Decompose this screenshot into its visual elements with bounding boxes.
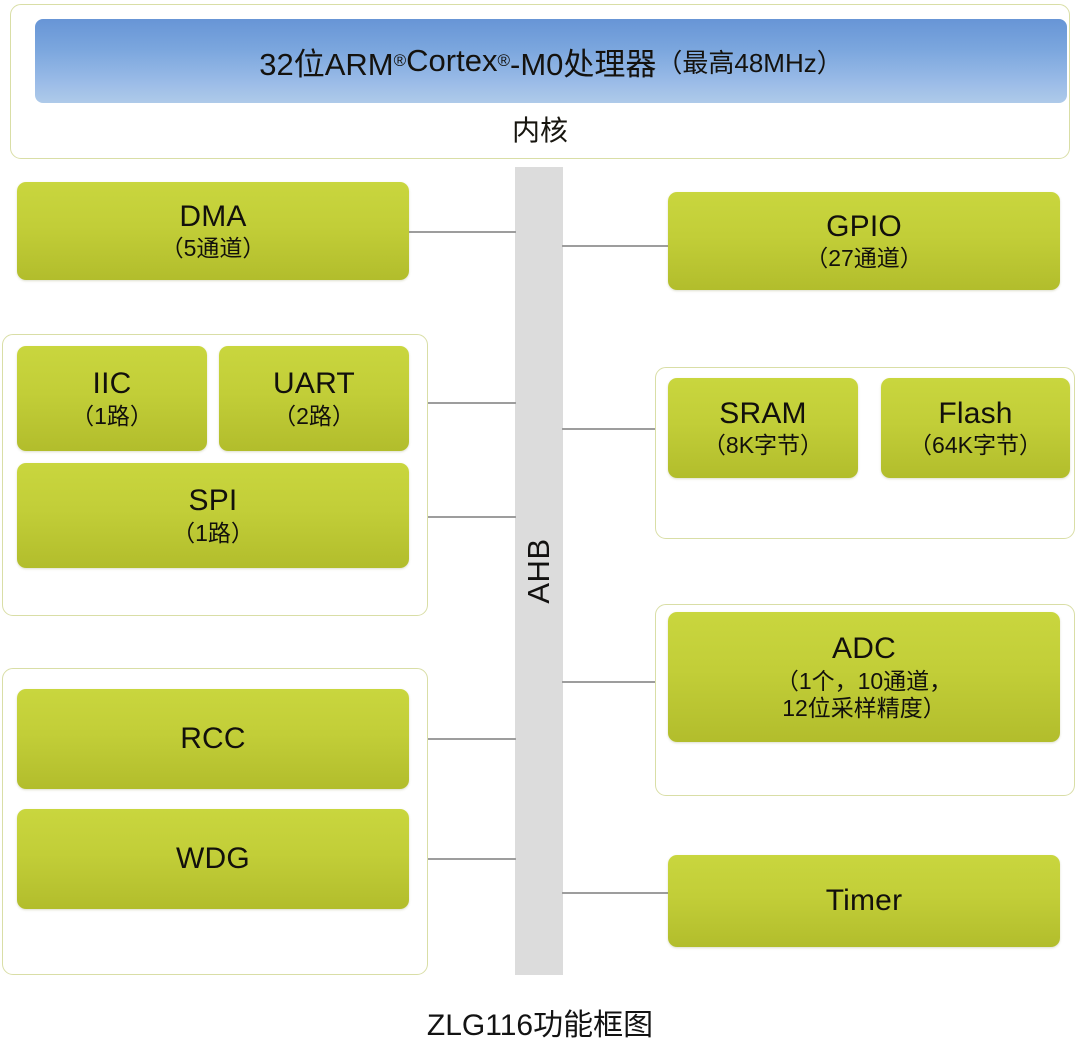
block-adc-name: ADC <box>832 632 896 666</box>
block-wdg[interactable]: WDG <box>17 809 409 909</box>
block-rcc-name: RCC <box>180 722 246 756</box>
core-processor-block: 32位ARM®Cortex®-M0处理器（最高48MHz） <box>35 19 1067 103</box>
block-diagram-canvas: 32位ARM®Cortex®-M0处理器（最高48MHz） 内核 AHB DMA… <box>0 0 1080 1061</box>
ahb-bus: AHB <box>515 167 563 975</box>
registered-mark-icon: ® <box>394 51 407 71</box>
block-sram-sub: （8K字节） <box>703 433 823 459</box>
block-gpio-sub: （27通道） <box>805 246 923 272</box>
block-adc[interactable]: ADC （1个，10通道， 12位采样精度） <box>668 612 1060 742</box>
block-spi-name: SPI <box>189 484 238 518</box>
block-sram-name: SRAM <box>719 397 806 431</box>
block-timer-name: Timer <box>826 884 903 918</box>
ahb-bus-label: AHB <box>521 538 557 603</box>
block-adc-sub: （1个，10通道， <box>776 669 952 695</box>
wire-bus-to-gpio <box>562 245 669 247</box>
core-group: 32位ARM®Cortex®-M0处理器（最高48MHz） 内核 <box>10 4 1070 159</box>
wire-dma-to-bus <box>409 231 516 233</box>
core-suffix: -M0处理器 <box>510 39 656 84</box>
block-dma-sub: （5通道） <box>161 236 266 262</box>
core-mid: Cortex <box>406 43 497 79</box>
block-spi-sub: （1路） <box>172 521 254 547</box>
block-wdg-name: WDG <box>176 842 250 876</box>
block-uart-sub: （2路） <box>273 404 355 430</box>
core-prefix: 32位ARM <box>259 39 393 84</box>
block-uart[interactable]: UART （2路） <box>219 346 409 451</box>
block-dma-name: DMA <box>179 200 246 234</box>
wire-bus-to-timer <box>562 892 669 894</box>
wire-bus-to-memory <box>562 428 669 430</box>
block-flash-name: Flash <box>938 397 1012 431</box>
block-iic-name: IIC <box>93 367 132 401</box>
block-gpio-name: GPIO <box>826 210 902 244</box>
block-adc-sub2: 12位采样精度） <box>782 696 946 722</box>
block-rcc[interactable]: RCC <box>17 689 409 789</box>
block-flash[interactable]: Flash （64K字节） <box>881 378 1070 478</box>
registered-mark-icon-2: ® <box>497 51 510 71</box>
block-sram[interactable]: SRAM （8K字节） <box>668 378 858 478</box>
block-flash-sub: （64K字节） <box>909 433 1042 459</box>
block-timer[interactable]: Timer <box>668 855 1060 947</box>
block-iic-sub: （1路） <box>71 404 153 430</box>
block-gpio[interactable]: GPIO （27通道） <box>668 192 1060 290</box>
diagram-caption: ZLG116功能框图 <box>0 1000 1080 1044</box>
block-dma[interactable]: DMA （5通道） <box>17 182 409 280</box>
wire-bus-to-adc <box>562 681 669 683</box>
core-group-label: 内核 <box>11 109 1069 149</box>
core-frequency: （最高48MHz） <box>656 43 842 80</box>
block-iic[interactable]: IIC （1路） <box>17 346 207 451</box>
block-uart-name: UART <box>273 367 355 401</box>
block-spi[interactable]: SPI （1路） <box>17 463 409 568</box>
